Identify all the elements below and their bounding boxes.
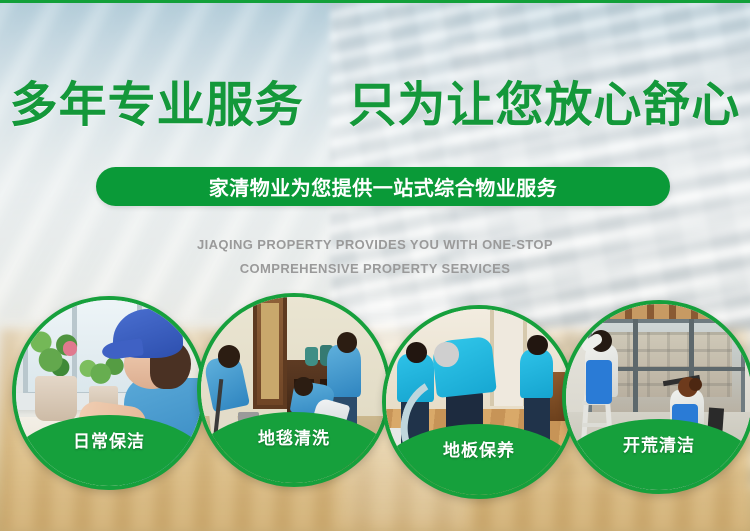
service-label: 开荒清洁	[623, 431, 695, 456]
service-circle-daily-cleaning[interactable]: 日常保洁	[12, 296, 206, 490]
service-label: 日常保洁	[73, 427, 145, 452]
service-circle-post-construction-cleaning[interactable]: 开荒清洁	[562, 300, 750, 494]
promo-banner: 多年专业服务 只为让您放心舒心 家清物业为您提供一站式综合物业服务 JIAQIN…	[0, 0, 750, 531]
service-circle-floor-maintenance[interactable]: 地板保养	[382, 305, 576, 499]
service-circle-carpet-cleaning[interactable]: 地毯清洗	[197, 293, 391, 487]
service-label: 地板保养	[443, 436, 515, 461]
service-label: 地毯清洗	[258, 424, 330, 449]
service-circle-list: 日常保洁 地毯清洗	[0, 0, 750, 531]
